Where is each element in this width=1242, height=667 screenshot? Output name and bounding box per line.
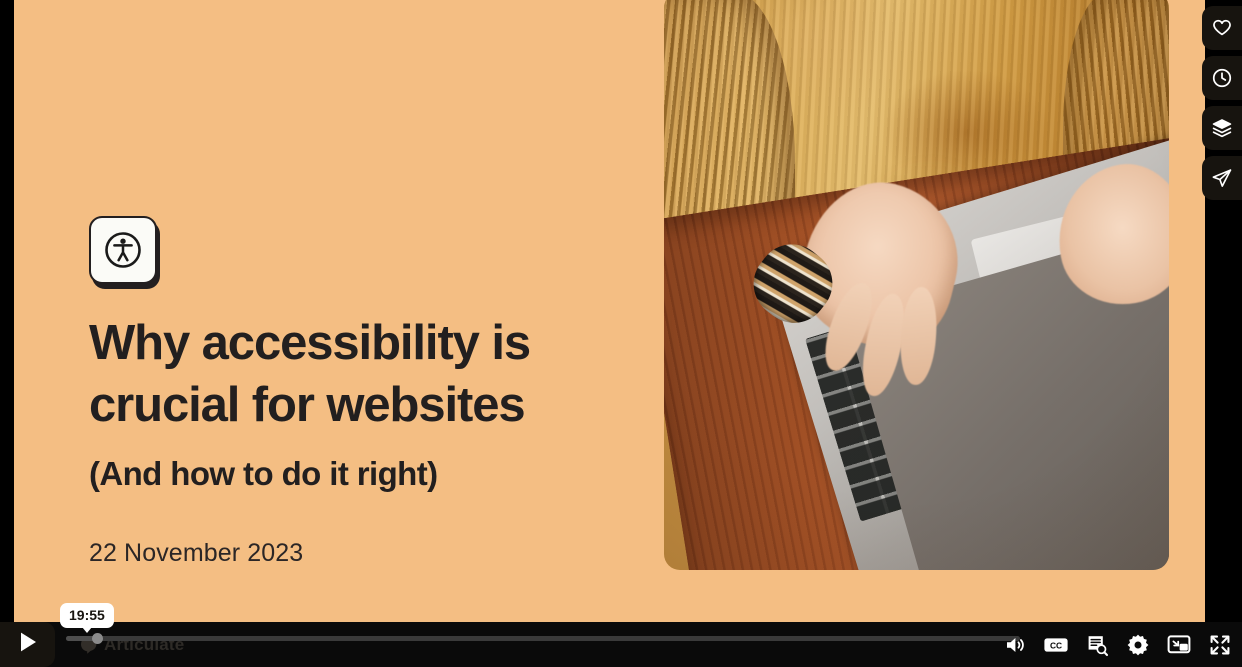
fullscreen-icon xyxy=(1208,633,1232,657)
favorite-tab[interactable] xyxy=(1202,6,1242,50)
share-tab[interactable] xyxy=(1202,156,1242,200)
progress-track[interactable] xyxy=(66,636,1020,641)
control-buttons-group: CC xyxy=(1001,622,1234,667)
paper-plane-icon xyxy=(1211,167,1233,189)
slide-text-column: Why accessibility is crucial for website… xyxy=(75,0,655,622)
accessibility-icon xyxy=(89,216,157,284)
slide-photo xyxy=(664,0,1169,570)
video-player: Why accessibility is crucial for website… xyxy=(0,0,1242,667)
play-icon xyxy=(17,630,39,659)
captions-button[interactable]: CC xyxy=(1042,631,1070,659)
slide-subtitle: (And how to do it right) xyxy=(89,452,649,496)
picture-in-picture-button[interactable] xyxy=(1165,631,1193,659)
fullscreen-button[interactable] xyxy=(1206,631,1234,659)
side-tab-rail xyxy=(1202,6,1242,206)
progress-handle[interactable] xyxy=(92,633,103,644)
time-tooltip: 19:55 xyxy=(60,603,114,628)
progress-scrubber[interactable]: Articulate xyxy=(66,622,1020,667)
frame-left-bar xyxy=(0,0,14,622)
volume-icon xyxy=(1003,633,1027,657)
resources-tab[interactable] xyxy=(1202,106,1242,150)
slide-date: 22 November 2023 xyxy=(89,536,649,570)
heart-icon xyxy=(1211,17,1233,39)
clock-icon xyxy=(1211,67,1233,89)
volume-button[interactable] xyxy=(1001,631,1029,659)
layers-icon xyxy=(1211,117,1233,139)
gear-icon xyxy=(1126,633,1150,657)
history-tab[interactable] xyxy=(1202,56,1242,100)
page-title: Why accessibility is crucial for website… xyxy=(89,312,649,436)
svg-text:CC: CC xyxy=(1050,640,1062,650)
pip-icon xyxy=(1167,634,1191,655)
transcript-search-icon xyxy=(1085,633,1109,657)
player-control-bar: Articulate 19:55 xyxy=(0,622,1242,667)
play-button[interactable] xyxy=(0,622,55,667)
photo-vignette xyxy=(664,0,1169,570)
transcript-button[interactable] xyxy=(1083,631,1111,659)
slide-stage: Why accessibility is crucial for website… xyxy=(14,0,1205,622)
cc-icon: CC xyxy=(1043,635,1069,655)
settings-button[interactable] xyxy=(1124,631,1152,659)
